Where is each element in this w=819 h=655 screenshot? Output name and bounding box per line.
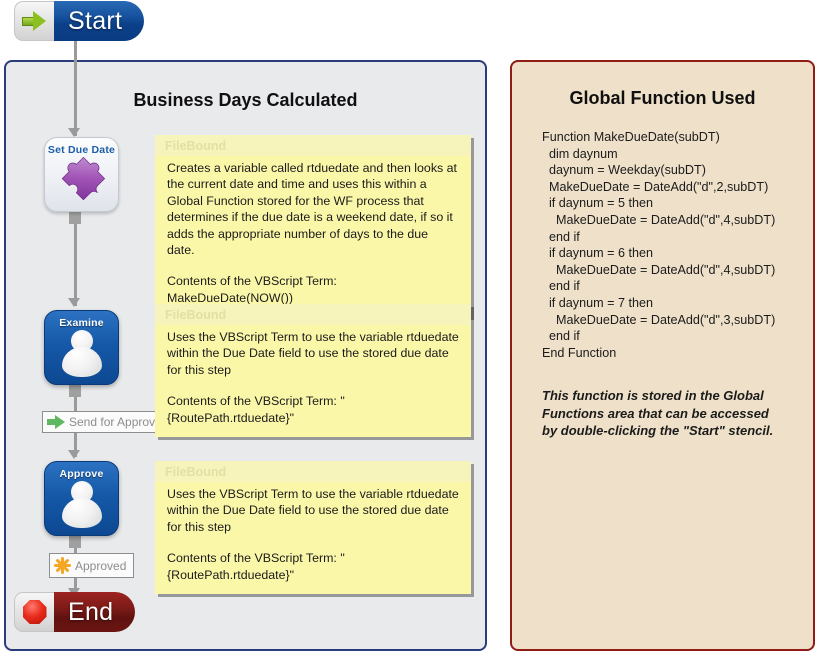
note-text-secondary: Contents of the VBScript Term: "{RoutePa… <box>167 393 459 426</box>
note-callout-set-due-date: FileBound Creates a variable called rtdu… <box>155 135 471 317</box>
purple-puzzle-piece-icon <box>57 157 107 203</box>
connector-start-to-setduedate <box>74 41 77 136</box>
left-panel-title: Business Days Calculated <box>6 90 485 111</box>
connector-arrowhead <box>68 128 80 137</box>
transition-tag-approved[interactable]: Approved <box>49 553 134 578</box>
transition-tag-send-for-approval[interactable]: Send for Approval <box>42 411 172 433</box>
note-text-secondary: Contents of the VBScript Term: MakeDueDa… <box>167 273 459 306</box>
note-header: FileBound <box>155 135 471 156</box>
end-node-label: End <box>54 592 135 632</box>
note-callout-examine: FileBound Uses the VBScript Term to use … <box>155 304 471 437</box>
right-panel-title: Global Function Used <box>512 88 813 109</box>
note-body: Creates a variable called rtduedate and … <box>155 156 471 317</box>
end-node[interactable]: End <box>14 592 135 632</box>
note-text-secondary: Contents of the VBScript Term: "{RoutePa… <box>167 550 459 583</box>
start-node[interactable]: Start <box>14 1 144 41</box>
global-function-code: Function MakeDueDate(subDT) dim daynum d… <box>542 129 813 361</box>
global-function-footnote: This function is stored in the Global Fu… <box>542 387 787 440</box>
transition-tag-label: Approved <box>75 559 126 573</box>
note-text-primary: Uses the VBScript Term to use the variab… <box>167 329 459 378</box>
connector-arrowhead <box>68 450 80 459</box>
connector-nub <box>69 212 81 224</box>
connector-arrowhead <box>68 298 80 307</box>
note-text-primary: Uses the VBScript Term to use the variab… <box>167 486 459 535</box>
step-label: Examine <box>59 317 104 329</box>
note-body: Uses the VBScript Term to use the variab… <box>155 325 471 437</box>
green-arrow-icon <box>47 415 65 429</box>
note-callout-approve: FileBound Uses the VBScript Term to use … <box>155 461 471 594</box>
note-header: FileBound <box>155 304 471 325</box>
connector-nub <box>69 536 81 548</box>
note-header: FileBound <box>155 461 471 482</box>
connector-nub <box>69 385 81 397</box>
person-icon <box>59 329 105 377</box>
connector-setduedate-to-examine <box>74 222 77 306</box>
step-label: Approve <box>60 468 104 480</box>
step-label: Set Due Date <box>48 144 115 156</box>
start-node-label: Start <box>54 1 144 41</box>
note-body: Uses the VBScript Term to use the variab… <box>155 482 471 594</box>
transition-tag-label: Send for Approval <box>69 415 164 429</box>
red-octagon-stop-icon <box>23 600 47 624</box>
person-icon <box>59 480 105 528</box>
start-icon-pad <box>14 1 54 41</box>
note-text-primary: Creates a variable called rtduedate and … <box>167 160 459 258</box>
workflow-step-approve[interactable]: Approve <box>44 461 119 536</box>
workflow-step-set-due-date[interactable]: Set Due Date <box>44 137 119 212</box>
workflow-step-examine[interactable]: Examine <box>44 310 119 385</box>
orange-asterisk-icon <box>54 557 71 574</box>
end-icon-pad <box>14 592 54 632</box>
right-panel: Global Function Used Function MakeDueDat… <box>510 60 815 651</box>
green-arrow-icon <box>22 11 47 32</box>
